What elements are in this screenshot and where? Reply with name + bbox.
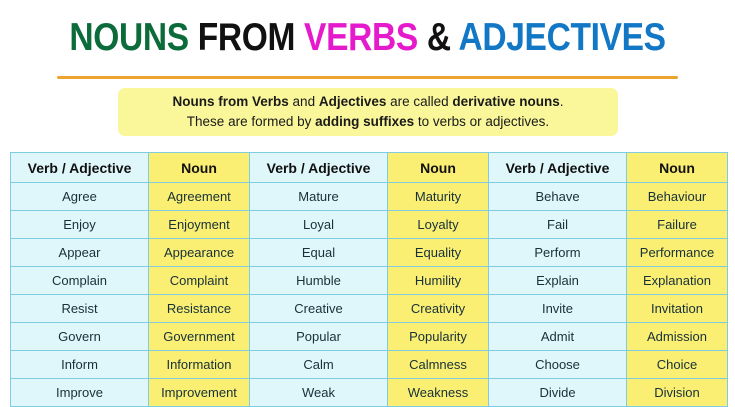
subtitle-text-are-called: are called: [386, 94, 452, 109]
page-title: NOUNS FROM VERBS & ADJECTIVES: [51, 16, 683, 60]
header-verb-adjective-1: Verb / Adjective: [11, 153, 149, 183]
table-row: AgreeAgreementMatureMaturityBehaveBehavi…: [11, 183, 728, 211]
table-header-row: Verb / Adjective Noun Verb / Adjective N…: [11, 153, 728, 183]
table-cell-noun: Performance: [627, 239, 728, 267]
table-cell-noun: Admission: [627, 323, 728, 351]
table-cell-noun: Invitation: [627, 295, 728, 323]
subtitle-text-and: and: [289, 94, 319, 109]
table-cell-noun: Failure: [627, 211, 728, 239]
table-row: EnjoyEnjoymentLoyalLoyaltyFailFailure: [11, 211, 728, 239]
table-row: InformInformationCalmCalmnessChooseChoic…: [11, 351, 728, 379]
table-row: GovernGovernmentPopularPopularityAdmitAd…: [11, 323, 728, 351]
table-cell-verb-adjective: Improve: [11, 379, 149, 407]
table-row: ImproveImprovementWeakWeaknessDivideDivi…: [11, 379, 728, 407]
title-word-nouns: NOUNS: [69, 16, 188, 59]
table-row: AppearAppearanceEqualEqualityPerformPerf…: [11, 239, 728, 267]
header-verb-adjective-2: Verb / Adjective: [250, 153, 388, 183]
table-row: ComplainComplaintHumbleHumilityExplainEx…: [11, 267, 728, 295]
table-cell-noun: Calmness: [388, 351, 489, 379]
table-cell-noun: Equality: [388, 239, 489, 267]
subtitle-text-these-are-formed: These are formed by: [187, 114, 315, 129]
table-cell-verb-adjective: Equal: [250, 239, 388, 267]
table-cell-verb-adjective: Choose: [489, 351, 627, 379]
header-noun-1: Noun: [149, 153, 250, 183]
table-cell-verb-adjective: Admit: [489, 323, 627, 351]
table-cell-noun: Popularity: [388, 323, 489, 351]
table-cell-verb-adjective: Popular: [250, 323, 388, 351]
table-cell-verb-adjective: Loyal: [250, 211, 388, 239]
table-cell-noun: Creativity: [388, 295, 489, 323]
table-cell-verb-adjective: Resist: [11, 295, 149, 323]
table-cell-verb-adjective: Inform: [11, 351, 149, 379]
table-cell-verb-adjective: Fail: [489, 211, 627, 239]
header-noun-3: Noun: [627, 153, 728, 183]
table-cell-verb-adjective: Enjoy: [11, 211, 149, 239]
table-cell-verb-adjective: Weak: [250, 379, 388, 407]
subtitle-bold-adding-suffixes: adding suffixes: [315, 114, 414, 129]
header-noun-2: Noun: [388, 153, 489, 183]
table-cell-noun: Enjoyment: [149, 211, 250, 239]
table-cell-verb-adjective: Complain: [11, 267, 149, 295]
title-divider-rule: [57, 76, 678, 79]
table-cell-noun: Agreement: [149, 183, 250, 211]
subtitle-bold-derivative-nouns: derivative nouns: [452, 94, 559, 109]
title-block: NOUNS FROM VERBS & ADJECTIVES: [0, 0, 735, 60]
table-header: Verb / Adjective Noun Verb / Adjective N…: [11, 153, 728, 183]
table-body: AgreeAgreementMatureMaturityBehaveBehavi…: [11, 183, 728, 407]
table-cell-noun: Government: [149, 323, 250, 351]
table-cell-noun: Appearance: [149, 239, 250, 267]
table-cell-noun: Resistance: [149, 295, 250, 323]
table-cell-verb-adjective: Behave: [489, 183, 627, 211]
title-word-verbs: VERBS: [304, 16, 418, 59]
table-cell-noun: Information: [149, 351, 250, 379]
table-cell-verb-adjective: Explain: [489, 267, 627, 295]
subtitle-callout-box: Nouns from Verbs and Adjectives are call…: [118, 88, 618, 136]
title-word-adjectives: ADJECTIVES: [458, 16, 665, 59]
table-cell-verb-adjective: Divide: [489, 379, 627, 407]
table-cell-noun: Choice: [627, 351, 728, 379]
table-cell-noun: Humility: [388, 267, 489, 295]
table-cell-verb-adjective: Govern: [11, 323, 149, 351]
subtitle-bold-nouns-from-verbs: Nouns from Verbs: [173, 94, 289, 109]
subtitle-line-1: Nouns from Verbs and Adjectives are call…: [173, 92, 564, 112]
table-cell-verb-adjective: Mature: [250, 183, 388, 211]
subtitle-line-2: These are formed by adding suffixes to v…: [187, 112, 549, 132]
table-cell-verb-adjective: Appear: [11, 239, 149, 267]
table-cell-noun: Loyalty: [388, 211, 489, 239]
subtitle-text-period: .: [560, 94, 564, 109]
table-cell-noun: Division: [627, 379, 728, 407]
table-cell-noun: Weakness: [388, 379, 489, 407]
table-cell-noun: Explanation: [627, 267, 728, 295]
table-row: ResistResistanceCreativeCreativityInvite…: [11, 295, 728, 323]
table-cell-verb-adjective: Perform: [489, 239, 627, 267]
table-cell-verb-adjective: Agree: [11, 183, 149, 211]
derivative-nouns-table: Verb / Adjective Noun Verb / Adjective N…: [10, 152, 728, 407]
table-cell-verb-adjective: Calm: [250, 351, 388, 379]
subtitle-bold-adjectives: Adjectives: [319, 94, 387, 109]
table-cell-noun: Complaint: [149, 267, 250, 295]
table-cell-noun: Maturity: [388, 183, 489, 211]
table-cell-verb-adjective: Humble: [250, 267, 388, 295]
table-cell-noun: Behaviour: [627, 183, 728, 211]
header-verb-adjective-3: Verb / Adjective: [489, 153, 627, 183]
subtitle-text-to-verbs: to verbs or adjectives.: [414, 114, 549, 129]
title-word-ampersand: &: [427, 16, 451, 59]
table-cell-noun: Improvement: [149, 379, 250, 407]
title-word-from: FROM: [198, 16, 295, 59]
table-cell-verb-adjective: Invite: [489, 295, 627, 323]
table-cell-verb-adjective: Creative: [250, 295, 388, 323]
